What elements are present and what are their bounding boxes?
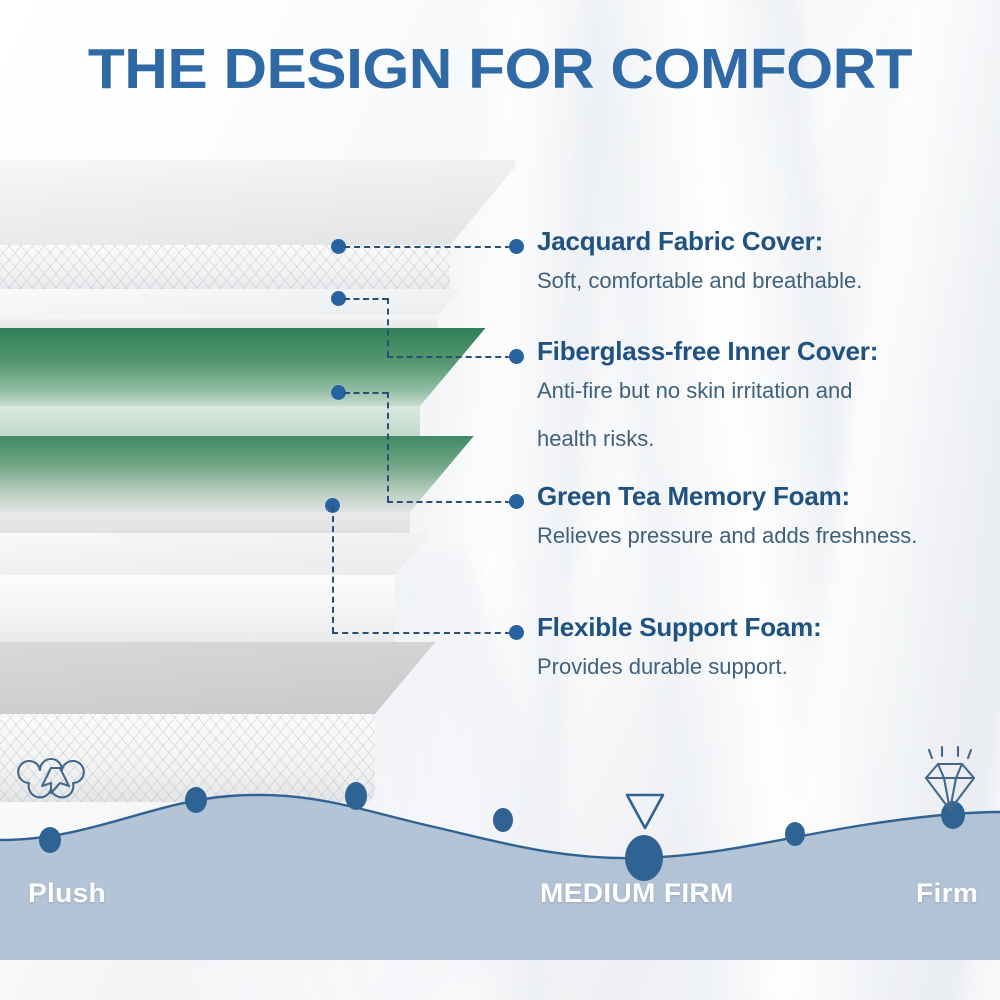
leader-line-vertical bbox=[332, 506, 334, 633]
infographic-page: THE DESIGN FOR COMFORT bbox=[0, 0, 1000, 1000]
firmness-scale[interactable]: Plush MEDIUM FIRM Firm bbox=[0, 740, 1000, 960]
cotton-boll-icon bbox=[18, 759, 84, 797]
leader-line bbox=[344, 298, 388, 300]
layer-front-edge bbox=[0, 315, 438, 329]
layer-green-tea-memory-foam-lower bbox=[0, 436, 410, 541]
layer-front-edge bbox=[0, 245, 450, 295]
leader-line bbox=[344, 246, 511, 248]
layer-top-face bbox=[0, 642, 435, 714]
layer-fiberglass-free-inner-cover bbox=[0, 289, 438, 329]
firmness-label-plush[interactable]: Plush bbox=[28, 878, 106, 909]
callout-dot bbox=[509, 494, 524, 509]
firmness-node bbox=[185, 787, 207, 813]
page-title: THE DESIGN FOR COMFORT bbox=[0, 36, 1000, 102]
callout-jacquard-fabric-cover: Jacquard Fabric Cover: Soft, comfortable… bbox=[537, 226, 987, 298]
layer-jacquard-fabric-cover bbox=[0, 160, 450, 295]
diamond-icon bbox=[926, 747, 974, 810]
callout-fiberglass-free-inner-cover: Fiberglass-free Inner Cover: Anti-fire b… bbox=[537, 336, 987, 456]
leader-line bbox=[332, 632, 511, 634]
callout-heading: Green Tea Memory Foam: bbox=[537, 481, 987, 512]
firmness-node bbox=[493, 808, 513, 832]
layer-top-face bbox=[0, 289, 460, 315]
callout-dot bbox=[509, 625, 524, 640]
leader-line bbox=[387, 501, 511, 503]
firmness-label-firm[interactable]: Firm bbox=[916, 878, 978, 909]
callout-flexible-support-foam: Flexible Support Foam: Provides durable … bbox=[537, 612, 987, 684]
layer-front-edge bbox=[0, 406, 420, 440]
firmness-node bbox=[345, 782, 367, 810]
callout-body-line: health risks. bbox=[537, 422, 987, 456]
leader-line bbox=[387, 356, 511, 358]
callout-body-line: Soft, comfortable and breathable. bbox=[537, 264, 987, 298]
callout-body-line: Anti-fire but no skin irritation and bbox=[537, 374, 987, 408]
layer-top-face bbox=[0, 160, 521, 245]
callout-dot bbox=[509, 239, 524, 254]
callout-green-tea-memory-foam: Green Tea Memory Foam: Relieves pressure… bbox=[537, 481, 987, 553]
callout-dot bbox=[509, 349, 524, 364]
firmness-label-medium-firm[interactable]: MEDIUM FIRM bbox=[540, 878, 734, 909]
callout-heading: Fiberglass-free Inner Cover: bbox=[537, 336, 987, 367]
layer-flexible-support-foam bbox=[0, 533, 395, 648]
layer-top-face bbox=[0, 533, 430, 575]
leader-line-vertical bbox=[387, 392, 389, 502]
callout-heading: Flexible Support Foam: bbox=[537, 612, 987, 643]
callout-heading: Jacquard Fabric Cover: bbox=[537, 226, 987, 257]
layer-green-tea-memory-foam bbox=[0, 328, 420, 440]
down-triangle-marker bbox=[627, 795, 663, 828]
callout-body-line: Provides durable support. bbox=[537, 650, 987, 684]
quilt-texture bbox=[0, 245, 450, 295]
layer-top-face bbox=[0, 328, 485, 406]
firmness-node bbox=[785, 822, 805, 846]
leader-line-vertical bbox=[387, 298, 389, 357]
firmness-node bbox=[39, 827, 61, 853]
firmness-wave-chart bbox=[0, 740, 1000, 960]
mattress-layer-stack bbox=[0, 160, 470, 760]
callout-body-line: Relieves pressure and adds freshness. bbox=[537, 519, 987, 553]
firmness-node-selected bbox=[625, 835, 663, 881]
layer-front-edge bbox=[0, 575, 395, 648]
leader-line bbox=[344, 392, 388, 394]
